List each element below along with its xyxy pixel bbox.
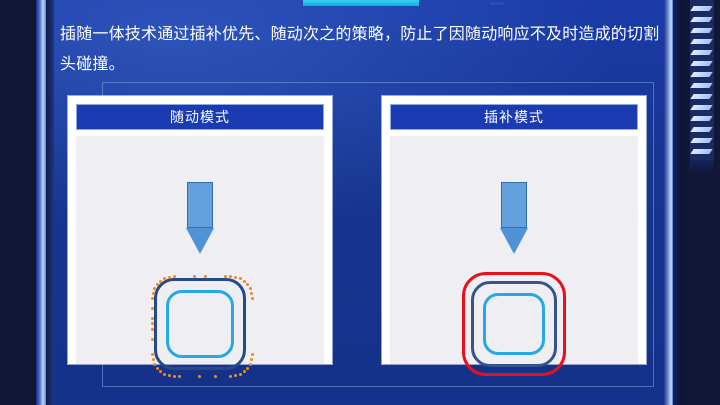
trace-dot <box>234 276 237 279</box>
card-title-interpolation-mode: 插补模式 <box>390 104 638 130</box>
top-tick-left <box>228 2 242 5</box>
comparison-cards: 随动模式 插补模式 <box>68 96 646 364</box>
trace-dot <box>243 280 246 283</box>
left-glow-rail <box>36 0 46 405</box>
trace-dot <box>250 292 253 295</box>
trace-dot <box>151 317 154 320</box>
cutting-head-body <box>501 182 527 228</box>
trace-dot <box>246 283 249 286</box>
trace-dot <box>159 370 162 373</box>
slash-mark-icon <box>690 94 712 99</box>
slash-mark-icon <box>690 50 712 55</box>
right-inner-rail <box>673 0 680 405</box>
trace-dot <box>151 322 154 325</box>
trace-dot <box>193 275 196 278</box>
trace-dot <box>156 283 159 286</box>
slash-mark-icon <box>690 17 712 22</box>
trace-dot <box>204 275 207 278</box>
trace-dot <box>152 292 155 295</box>
trace-dot <box>229 375 232 378</box>
inner-blue-contour <box>166 290 234 358</box>
workpiece-interpolation-mode <box>462 272 566 376</box>
slash-mark-icon <box>690 28 712 33</box>
trace-dot <box>250 358 253 361</box>
slash-mark-icon <box>690 6 712 11</box>
headline-text: 插随一体技术通过插补优先、随动次之的策略，防止了因随动响应不及时造成的切割头碰撞… <box>60 20 668 80</box>
trace-dot <box>214 375 217 378</box>
diagram-interpolation-mode <box>390 136 638 364</box>
trace-dot <box>249 363 252 366</box>
trace-dot <box>246 367 249 370</box>
trace-dot <box>163 277 166 280</box>
trace-dot <box>251 353 254 356</box>
top-tick-right <box>490 2 504 5</box>
slash-strip-base <box>690 160 714 172</box>
left-gutter <box>0 0 36 405</box>
workpiece-follow-mode <box>148 272 252 376</box>
slash-mark-icon <box>690 83 712 88</box>
left-inner-rail <box>46 0 54 405</box>
top-accent-tab <box>303 0 419 6</box>
diagram-follow-mode <box>76 136 324 364</box>
trace-dot <box>159 280 162 283</box>
cutting-head-icon <box>501 182 527 254</box>
cutting-head-tip <box>500 228 528 254</box>
trace-dot <box>251 297 254 300</box>
trace-dot <box>153 363 156 366</box>
slash-mark-icon <box>690 127 712 132</box>
trace-dot <box>243 370 246 373</box>
cutting-head-body <box>187 182 213 228</box>
slash-mark-icon <box>690 116 712 121</box>
slash-mark-icon <box>690 72 712 77</box>
inner-blue-contour <box>483 293 545 355</box>
slash-mark-icon <box>690 105 712 110</box>
slash-mark-icon <box>690 39 712 44</box>
trace-dot <box>153 287 156 290</box>
trace-dot <box>151 353 154 356</box>
trace-dot <box>151 297 154 300</box>
card-interpolation-mode: 插补模式 <box>382 96 646 364</box>
trace-dot <box>173 275 176 278</box>
trace-dot <box>224 275 227 278</box>
slash-mark-icon <box>690 149 712 154</box>
slide-screen: 插随一体技术通过插补优先、随动次之的策略，防止了因随动响应不及时造成的切割头碰撞… <box>0 0 720 405</box>
trace-dot <box>168 276 171 279</box>
cutting-head-icon <box>187 182 213 254</box>
trace-dot <box>249 287 252 290</box>
trace-dot <box>239 373 242 376</box>
trace-dot <box>173 375 176 378</box>
slash-mark-icon <box>690 61 712 66</box>
trace-dot <box>163 373 166 376</box>
trace-dot <box>156 367 159 370</box>
card-follow-mode: 随动模式 <box>68 96 332 364</box>
trace-dot <box>239 277 242 280</box>
diagonal-slash-decoration-icon <box>690 0 714 168</box>
trace-dot <box>151 307 154 310</box>
trace-dot <box>151 338 154 341</box>
card-title-follow-mode: 随动模式 <box>76 104 324 130</box>
slash-mark-icon <box>690 138 712 143</box>
cutting-head-tip <box>186 228 214 254</box>
trace-dot <box>151 328 154 331</box>
trace-dot <box>152 358 155 361</box>
trace-dot <box>229 275 232 278</box>
